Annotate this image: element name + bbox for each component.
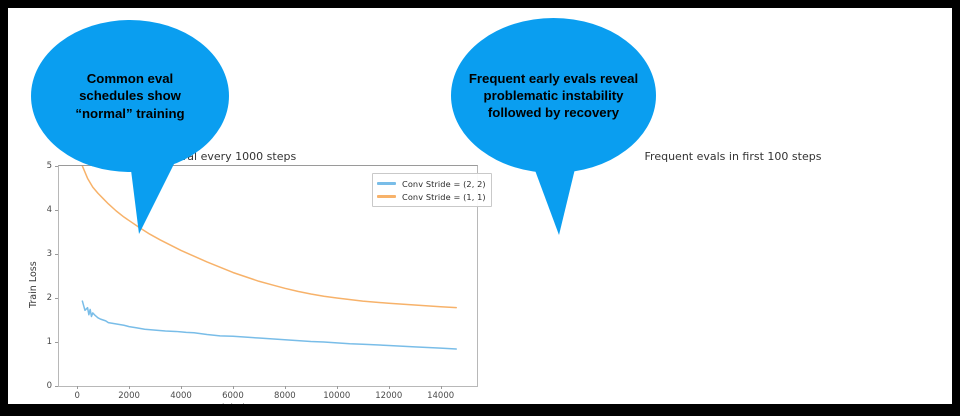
speech-bubble-shape: Common eval schedules show “normal” trai…: [31, 20, 229, 172]
x-tick-label: 14000: [427, 391, 454, 401]
legend-swatch-icon: [377, 182, 396, 184]
x-tickmark: [181, 386, 182, 389]
x-tick-label: 6000: [222, 391, 244, 401]
speech-bubble-shape: Frequent early evals reveal problematic …: [451, 18, 656, 173]
y-tickmark: [55, 254, 58, 255]
x-tick-label: 12000: [375, 391, 402, 401]
figure-frame: Eval every 1000 steps Train Loss Global …: [0, 0, 960, 416]
left-chart-xlabel: Global Step: [215, 403, 270, 404]
y-tick-label: 2: [30, 293, 52, 303]
x-tick-label: 0: [74, 391, 79, 401]
y-tick-label: 1: [30, 337, 52, 347]
x-tickmark: [233, 386, 234, 389]
y-tick-label: 0: [30, 381, 52, 391]
x-tickmark: [129, 386, 130, 389]
x-tick-label: 10000: [323, 391, 350, 401]
annotation-bubble-right: Frequent early evals reveal problematic …: [451, 18, 656, 238]
y-tickmark: [55, 298, 58, 299]
legend-swatch-icon: [377, 195, 396, 197]
x-tickmark: [77, 386, 78, 389]
annotation-bubble-left: Common eval schedules show “normal” trai…: [31, 20, 229, 235]
series-line: [82, 301, 456, 349]
y-tick-label: 3: [30, 249, 52, 259]
x-tickmark: [389, 386, 390, 389]
x-tick-label: 2000: [118, 391, 140, 401]
x-tick-label: 4000: [170, 391, 192, 401]
x-tickmark: [441, 386, 442, 389]
y-tickmark: [55, 386, 58, 387]
y-tickmark: [55, 342, 58, 343]
annotation-bubble-right-text: Frequent early evals reveal problematic …: [465, 70, 643, 121]
x-tickmark: [285, 386, 286, 389]
annotation-bubble-left-text: Common eval schedules show “normal” trai…: [55, 70, 205, 121]
x-tick-label: 8000: [274, 391, 296, 401]
figure-canvas: Eval every 1000 steps Train Loss Global …: [8, 8, 952, 404]
x-tickmark: [337, 386, 338, 389]
